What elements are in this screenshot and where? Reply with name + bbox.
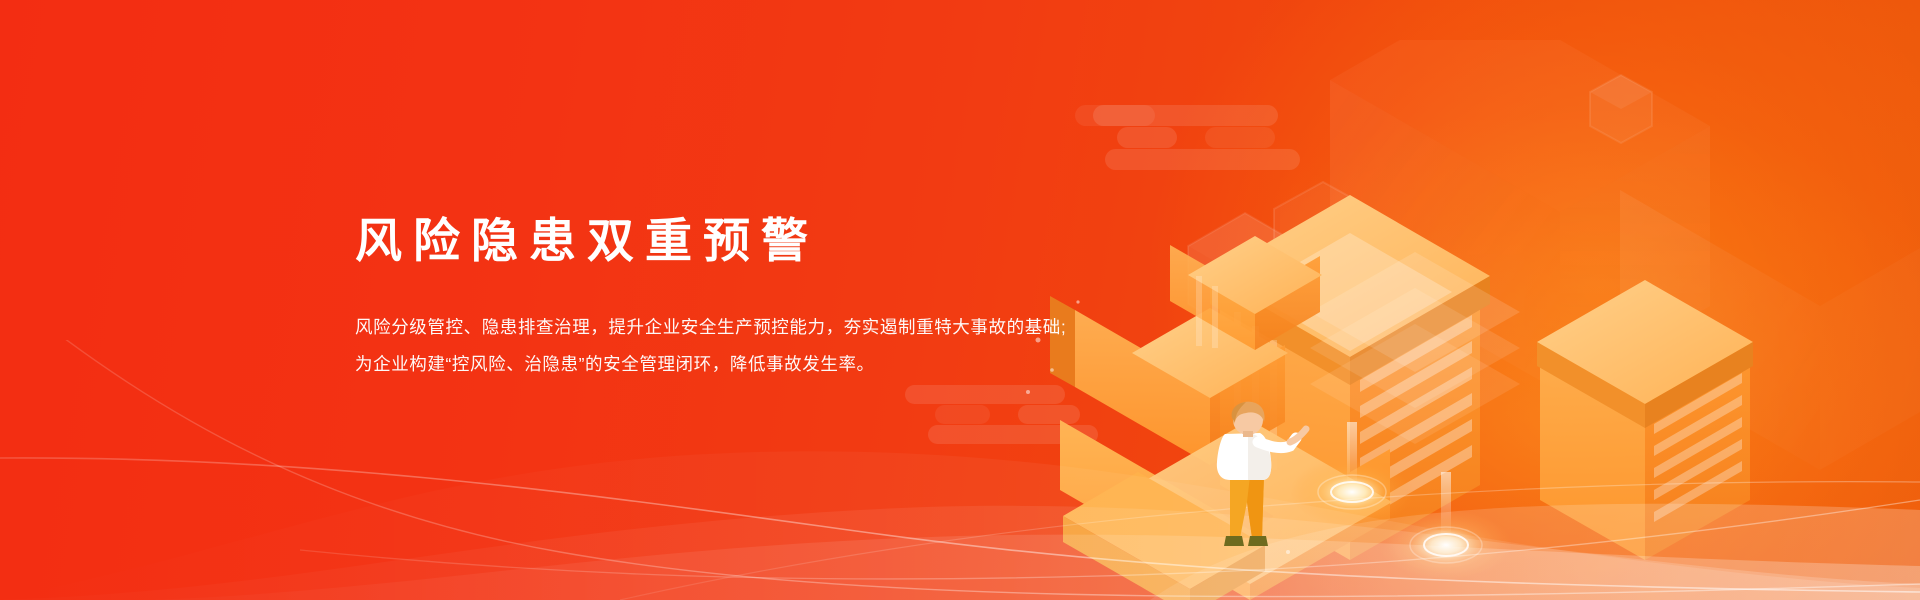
subtitle-line-1: 风险分级管控、隐患排查治理，提升企业安全生产预控能力，夯实遏制重特大事故的基础; bbox=[355, 309, 1066, 346]
isometric-server-city-illustration bbox=[1020, 40, 1920, 600]
cloud-shape-lower bbox=[900, 385, 1090, 447]
glow-light-lower bbox=[1380, 472, 1512, 581]
hexagon-outline-small bbox=[1268, 178, 1378, 296]
person-pointing-figure bbox=[1192, 398, 1324, 562]
cloud-shape-upper bbox=[1075, 105, 1285, 175]
banner-subtitle: 风险分级管控、隐患排查治理，提升企业安全生产预控能力，夯实遏制重特大事故的基础;… bbox=[355, 309, 1066, 383]
banner-copy-block: 风险隐患双重预警 风险分级管控、隐患排查治理，提升企业安全生产预控能力，夯实遏制… bbox=[355, 212, 1066, 383]
isometric-cube-outline bbox=[1180, 205, 1310, 340]
page-title: 风险隐患双重预警 bbox=[355, 212, 1066, 271]
subtitle-line-2: 为企业构建“控风险、治隐患”的安全管理闭环，降低事故发生率。 bbox=[355, 346, 1066, 383]
hexagon-outline-large bbox=[1586, 72, 1656, 146]
hero-banner: 风险隐患双重预警 风险分级管控、隐患排查治理，提升企业安全生产预控能力，夯实遏制… bbox=[0, 0, 1920, 600]
background-glow-secondary bbox=[1280, 120, 1920, 600]
